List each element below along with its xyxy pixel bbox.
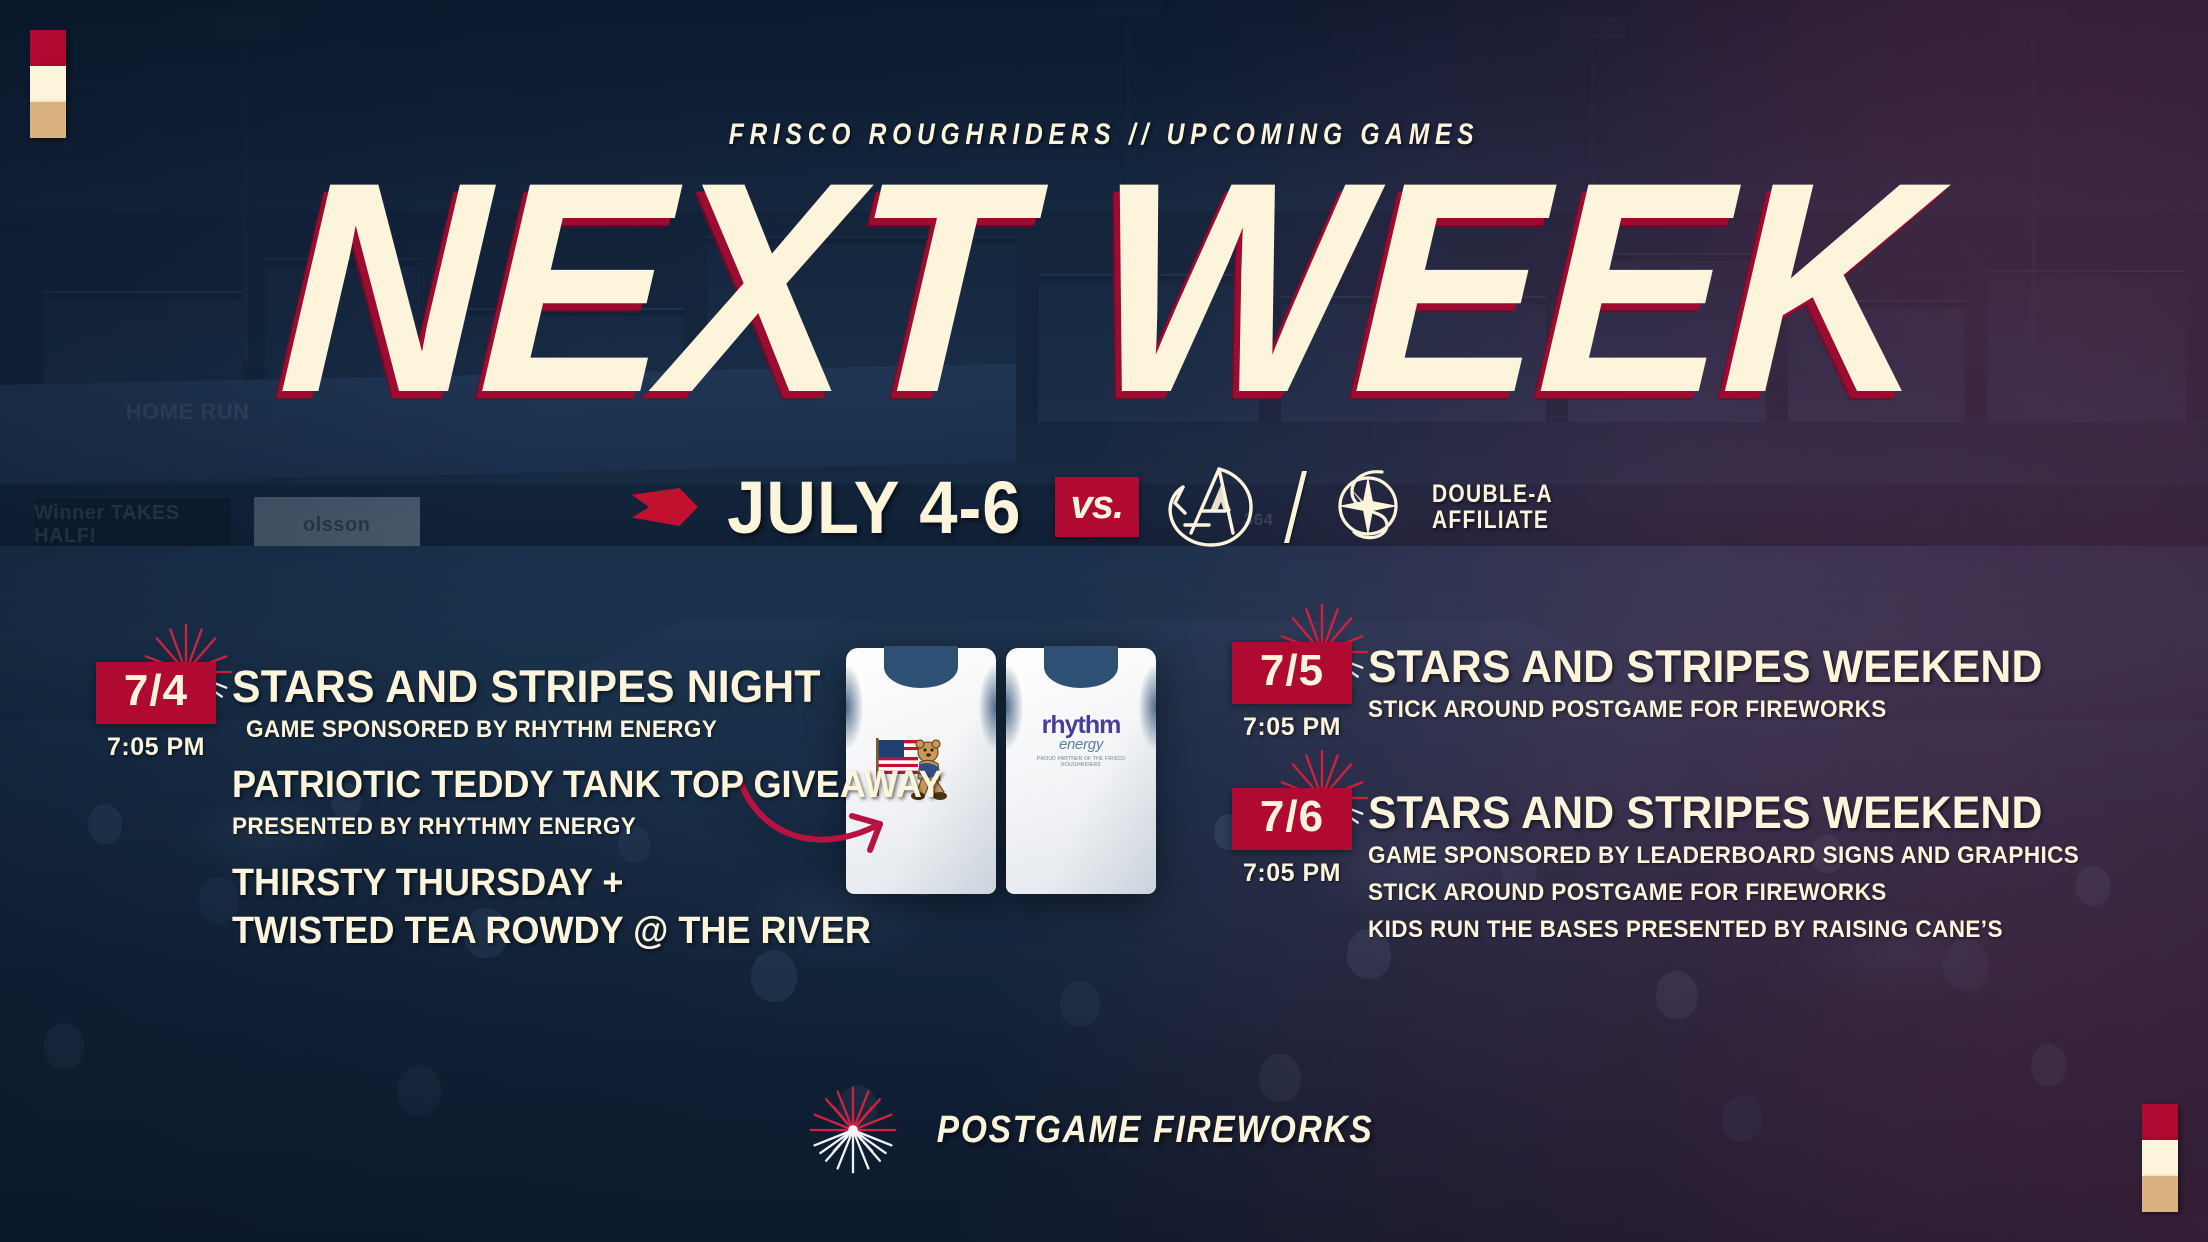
matchup-row: JULY 4-6 vs.	[0, 462, 2208, 552]
page-title: NEXT WEEK	[275, 140, 1932, 434]
event-info: STARS AND STRIPES WEEKEND GAME SPONSORED…	[1368, 786, 2125, 948]
event-card[interactable]: 7/5 7:05 PM STARS AND STRIPES WEEKEND ST…	[1232, 640, 2072, 742]
swatch-cream	[2142, 1140, 2178, 1176]
event-info: STARS AND STRIPES NIGHT GAME SPONSORED B…	[232, 660, 980, 954]
event-card[interactable]: 7/4 7:05 PM STARS AND STRIPES NIGHT GAME…	[96, 660, 976, 954]
event-date-badge: 7/6	[1232, 788, 1352, 850]
events-column-right: 7/5 7:05 PM STARS AND STRIPES WEEKEND ST…	[1232, 640, 2072, 974]
event-title: STARS AND STRIPES WEEKEND	[1368, 790, 2087, 837]
date-column: 7/4 7:05 PM	[96, 660, 216, 762]
event-title: STARS AND STRIPES NIGHT	[232, 664, 943, 711]
event-promo: TWISTED TEA ROWDY @ THE RIVER	[232, 908, 943, 954]
arrow-right-icon	[632, 488, 698, 526]
event-promo: THIRSTY THURSDAY +	[232, 860, 943, 906]
swatch-cream	[30, 66, 66, 102]
event-subtitle: STICK AROUND POSTGAME FOR FIREWORKS	[1368, 691, 2035, 728]
affiliate-line-1: DOUBLE-A	[1432, 481, 1553, 508]
event-time: 7:05 PM	[96, 733, 216, 762]
seattle-mariners-compass-logo-icon	[1326, 462, 1410, 552]
date-column: 7/5 7:05 PM	[1232, 640, 1352, 742]
affiliate-line-2: AFFILIATE	[1432, 507, 1553, 534]
events-column-left: 7/4 7:05 PM STARS AND STRIPES NIGHT GAME…	[96, 660, 976, 980]
event-date-badge: 7/5	[1232, 642, 1352, 704]
event-subtitle: GAME SPONSORED BY LEADERBOARD SIGNS AND …	[1368, 837, 2079, 874]
poster-stage: Winner TAKES HALF! olsson 364 HOME RUN	[0, 0, 2208, 1242]
footer-banner: POSTGAME FIREWORKS	[0, 1082, 2208, 1178]
date-column: 7/6 7:05 PM	[1232, 786, 1352, 888]
event-subtitle: GAME SPONSORED BY RHYTHM ENERGY	[246, 711, 936, 748]
logo-divider	[1284, 471, 1307, 543]
headline-container: NEXT WEEK	[0, 140, 2208, 434]
event-time: 7:05 PM	[1232, 713, 1352, 742]
event-title: STARS AND STRIPES WEEKEND	[1368, 644, 2043, 691]
swatch-tan	[30, 102, 66, 138]
rhythm-wordmark: rhythm	[1024, 714, 1138, 737]
fireworks-burst-icon	[805, 1082, 901, 1178]
affiliate-label: DOUBLE-A AFFILIATE	[1432, 481, 1553, 534]
footer-label: POSTGAME FIREWORKS	[937, 1109, 1374, 1152]
event-info: STARS AND STRIPES WEEKEND STICK AROUND P…	[1368, 640, 2078, 728]
swatch-crimson	[2142, 1104, 2178, 1140]
event-promo: PATRIOTIC TEDDY TANK TOP GIVEAWAY	[232, 762, 943, 808]
corner-mark-bottom-right	[2142, 1104, 2178, 1212]
tank-top-back: rhythm energy PROUD PARTNER OF THE FRISC…	[1006, 648, 1156, 894]
swatch-crimson	[30, 30, 66, 66]
rhythm-tagline: PROUD PARTNER OF THE FRISCO ROUGHRIDERS	[1024, 756, 1138, 768]
event-promo-presenter: PRESENTED BY RHYTHMY ENERGY	[232, 808, 935, 845]
vs-badge: vs.	[1055, 477, 1140, 537]
event-date-badge: 7/4	[96, 662, 216, 724]
game-dates: JULY 4-6	[727, 465, 1021, 550]
rhythm-energy-logo: rhythm energy PROUD PARTNER OF THE FRISC…	[1024, 714, 1138, 768]
corner-mark-top-left	[30, 30, 66, 138]
event-time: 7:05 PM	[1232, 859, 1352, 888]
arkansas-travelers-logo-icon	[1161, 463, 1265, 551]
event-card[interactable]: 7/6 7:05 PM STARS AND STRIPES WEEKEND GA…	[1232, 786, 2072, 948]
swatch-tan	[2142, 1176, 2178, 1212]
event-subtitle: KIDS RUN THE BASES PRESENTED BY RAISING …	[1368, 911, 2079, 948]
event-subtitle: STICK AROUND POSTGAME FOR FIREWORKS	[1368, 874, 2079, 911]
